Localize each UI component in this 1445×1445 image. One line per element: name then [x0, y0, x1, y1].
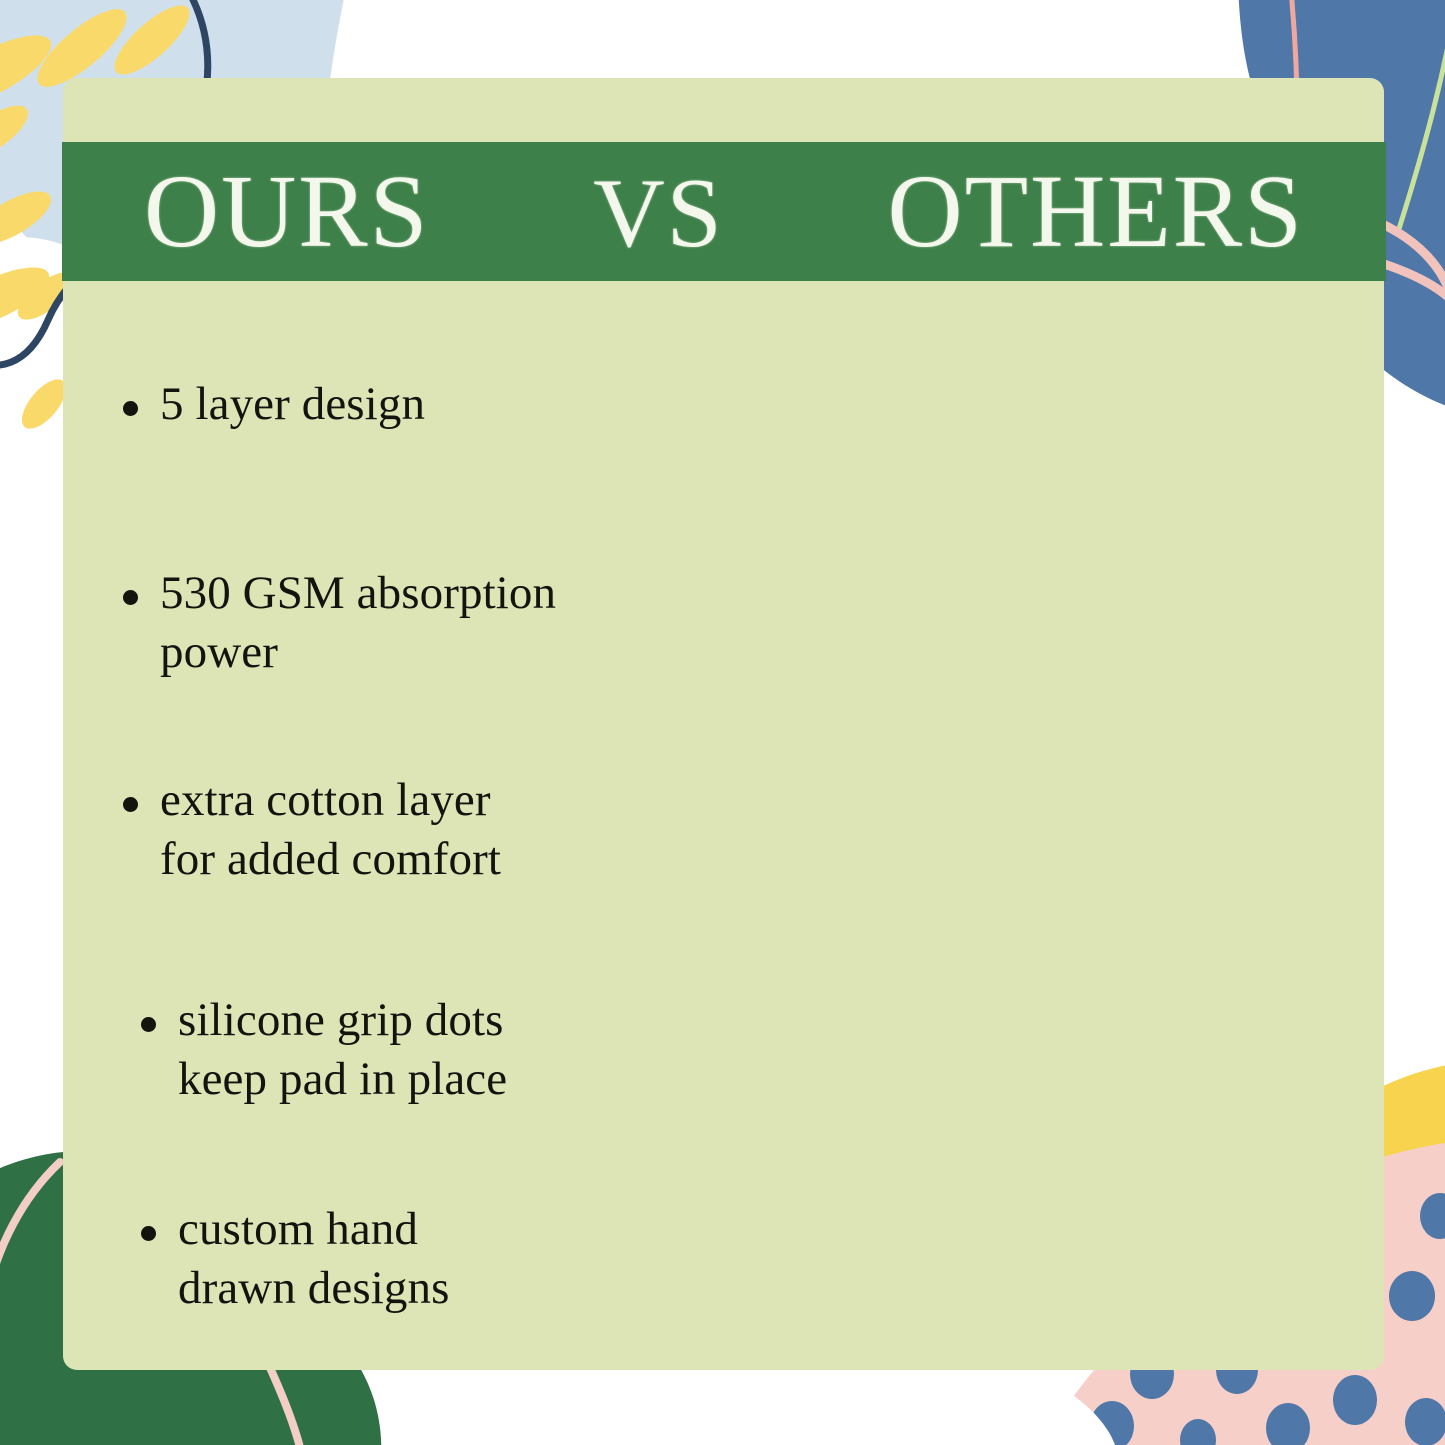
list-item-label: custom hand drawn designs: [178, 1200, 450, 1318]
list-item: silicone grip dots keep pad in place: [141, 991, 507, 1109]
list-item-label: 5 layer design: [160, 375, 425, 434]
bullet-dot-icon: [123, 797, 138, 812]
column-ours: 5 layer design 530 GSM absorption power …: [63, 281, 750, 1370]
list-item: 530 GSM absorption power: [123, 564, 556, 682]
title-others: OTHERS: [888, 160, 1304, 264]
dot-blue-icon: [1389, 1271, 1435, 1321]
column-others: 4 layer design 450 or less GSM absorptio…: [750, 281, 1384, 1370]
bullet-dot-icon: [141, 1226, 156, 1241]
list-item-label: 530 GSM absorption power: [160, 564, 556, 682]
title-vs: VS: [593, 164, 724, 263]
comparison-columns: 5 layer design 530 GSM absorption power …: [63, 281, 1384, 1370]
title-ours: OURS: [144, 160, 429, 264]
list-item: custom hand drawn designs: [141, 1200, 450, 1318]
infographic-canvas: OURS VS OTHERS 5 layer design 530 GSM ab…: [0, 0, 1445, 1445]
dot-blue-icon: [1333, 1375, 1377, 1425]
list-item: extra cotton layer for added comfort: [123, 771, 501, 889]
bullet-dot-icon: [141, 1017, 156, 1032]
bullet-dot-icon: [123, 401, 138, 416]
title-band: OURS VS OTHERS: [62, 142, 1386, 281]
list-item-label: extra cotton layer for added comfort: [160, 771, 501, 889]
bullet-dot-icon: [123, 590, 138, 605]
list-item: 5 layer design: [123, 375, 425, 434]
list-item-label: silicone grip dots keep pad in place: [178, 991, 507, 1109]
